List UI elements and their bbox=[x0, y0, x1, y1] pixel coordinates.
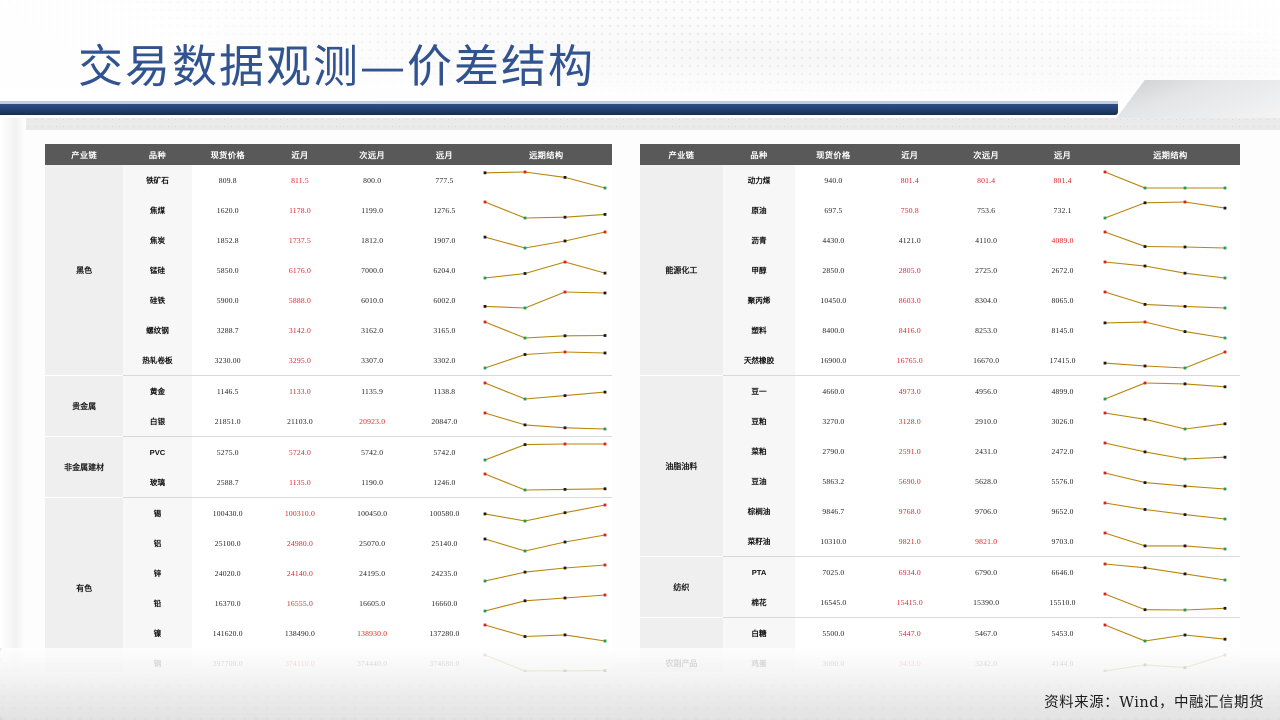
chain-cell: 油脂油料 bbox=[640, 376, 723, 557]
table-right: 产业链 品种 现货价格 近月 次远月 远月 远期结构 能源化工动力煤940.08… bbox=[640, 144, 1240, 709]
price-cell-mid: 16670.0 bbox=[948, 345, 1024, 376]
forward-structure-sparkline bbox=[481, 558, 612, 588]
forward-structure-sparkline bbox=[1101, 466, 1240, 496]
table-row: 白银21851.021103.020923.020847.0 bbox=[45, 406, 612, 437]
forward-structure-sparkline bbox=[1101, 376, 1240, 407]
forward-structure-sparkline bbox=[481, 225, 612, 255]
variety-cell: 玻璃 bbox=[123, 467, 191, 498]
price-cell-mid: 16605.0 bbox=[336, 588, 408, 618]
price-cell-near: 1178.0 bbox=[264, 195, 336, 225]
variety-cell: 菜粕 bbox=[723, 436, 795, 466]
price-cell-mid: 5628.0 bbox=[948, 466, 1024, 496]
price-cell-mid: 1135.9 bbox=[336, 376, 408, 407]
price-cell-far: 137280.0 bbox=[408, 618, 480, 648]
price-cell-spot: 16545.0 bbox=[795, 587, 871, 618]
forward-structure-sparkline bbox=[481, 437, 612, 468]
variety-cell: 铁矿石 bbox=[123, 165, 191, 195]
price-cell-spot: 10310.0 bbox=[795, 526, 871, 557]
price-cell-near: 8416.0 bbox=[872, 315, 948, 345]
price-cell-far: 4089.0 bbox=[1024, 225, 1100, 255]
price-cell-far: 1276.5 bbox=[408, 195, 480, 225]
price-cell-far: 20847.0 bbox=[408, 406, 480, 437]
table-row: 棕榈油9846.79768.09706.09652.0 bbox=[640, 496, 1240, 526]
price-cell-far: 8145.0 bbox=[1024, 315, 1100, 345]
price-cell-spot: 9846.7 bbox=[795, 496, 871, 526]
variety-cell: 棕榈油 bbox=[723, 496, 795, 526]
price-cell-mid: 100450.0 bbox=[336, 498, 408, 529]
variety-cell: 聚丙烯 bbox=[723, 285, 795, 315]
price-cell-mid: 4956.0 bbox=[948, 376, 1024, 407]
price-cell-far: 24235.0 bbox=[408, 558, 480, 588]
price-cell-mid: 9821.0 bbox=[948, 526, 1024, 557]
price-cell-near: 3142.0 bbox=[264, 315, 336, 345]
price-cell-near: 1133.0 bbox=[264, 376, 336, 407]
table-row: 豆粕3270.03128.02910.03026.0 bbox=[640, 406, 1240, 436]
price-cell-mid: 5742.0 bbox=[336, 437, 408, 468]
table-row: 镍141620.0138490.0138930.0137280.0 bbox=[45, 618, 612, 648]
variety-cell: 热轧卷板 bbox=[123, 345, 191, 376]
table-row: 铅16370.016555.016605.016660.0 bbox=[45, 588, 612, 618]
header-row: 产业链 品种 现货价格 近月 次远月 远月 远期结构 bbox=[45, 144, 612, 165]
price-cell-near: 801.4 bbox=[872, 165, 948, 195]
col-forward-structure: 远期结构 bbox=[481, 144, 612, 165]
price-cell-far: 15510.0 bbox=[1024, 587, 1100, 618]
price-cell-near: 16555.0 bbox=[264, 588, 336, 618]
table-left-body: 黑色铁矿石809.8811.5800.0777.5焦煤1620.01178.01… bbox=[45, 165, 612, 720]
price-cell-near: 5690.0 bbox=[872, 466, 948, 496]
page-title: 交易数据观测—价差结构 bbox=[78, 30, 595, 95]
variety-cell: 原油 bbox=[723, 195, 795, 225]
header-row: 产业链 品种 现货价格 近月 次远月 远月 远期结构 bbox=[640, 144, 1240, 165]
forward-structure-sparkline bbox=[481, 528, 612, 558]
forward-structure-sparkline bbox=[1101, 225, 1240, 255]
price-cell-near: 9821.0 bbox=[872, 526, 948, 557]
table-row: 天然橡胶16900.016765.016670.017415.0 bbox=[640, 345, 1240, 376]
price-cell-far: 100580.0 bbox=[408, 498, 480, 529]
col-variety: 品种 bbox=[723, 144, 795, 165]
variety-cell: 动力煤 bbox=[723, 165, 795, 195]
price-cell-spot: 1146.5 bbox=[192, 376, 264, 407]
price-cell-far: 732.1 bbox=[1024, 195, 1100, 225]
price-cell-near: 3295.0 bbox=[264, 345, 336, 376]
col-near: 近月 bbox=[872, 144, 948, 165]
price-cell-mid: 8253.0 bbox=[948, 315, 1024, 345]
price-cell-spot: 3270.0 bbox=[795, 406, 871, 436]
price-cell-near: 750.8 bbox=[872, 195, 948, 225]
slide-canvas: 交易数据观测—价差结构 产业链 品种 现货价格 近月 次远月 远月 远期结构 黑… bbox=[0, 0, 1280, 720]
col-spot: 现货价格 bbox=[795, 144, 871, 165]
col-near: 近月 bbox=[264, 144, 336, 165]
table-row: 纺织PTA7025.06934.06790.06646.0 bbox=[640, 557, 1240, 588]
forward-structure-sparkline bbox=[481, 195, 612, 225]
table-row: 甲醇2850.02805.02725.02672.0 bbox=[640, 255, 1240, 285]
title-rule bbox=[0, 104, 1118, 115]
price-cell-mid: 800.0 bbox=[336, 165, 408, 195]
forward-structure-sparkline bbox=[481, 467, 612, 498]
price-cell-mid: 6010.0 bbox=[336, 285, 408, 315]
table-left-head: 产业链 品种 现货价格 近月 次远月 远月 远期结构 bbox=[45, 144, 612, 165]
forward-structure-sparkline bbox=[1101, 436, 1240, 466]
price-cell-near: 8603.0 bbox=[872, 285, 948, 315]
forward-structure-sparkline bbox=[1101, 165, 1240, 195]
forward-structure-sparkline bbox=[1101, 587, 1240, 618]
price-cell-far: 25140.0 bbox=[408, 528, 480, 558]
variety-cell: 黄金 bbox=[123, 376, 191, 407]
variety-cell: 硅铁 bbox=[123, 285, 191, 315]
table-row: 农副产品白糖5500.05447.05467.05453.0 bbox=[640, 618, 1240, 649]
price-cell-near: 4121.0 bbox=[872, 225, 948, 255]
table-row: 螺纹钢3288.73142.03162.03165.0 bbox=[45, 315, 612, 345]
price-cell-spot: 25100.0 bbox=[192, 528, 264, 558]
price-cell-spot: 24020.0 bbox=[192, 558, 264, 588]
price-cell-mid: 9706.0 bbox=[948, 496, 1024, 526]
price-cell-near: 16765.0 bbox=[872, 345, 948, 376]
price-cell-spot: 5500.0 bbox=[795, 618, 871, 649]
price-cell-spot: 16900.0 bbox=[795, 345, 871, 376]
price-cell-mid: 3307.0 bbox=[336, 345, 408, 376]
forward-structure-sparkline bbox=[481, 588, 612, 618]
price-cell-far: 6002.0 bbox=[408, 285, 480, 315]
price-cell-far: 2472.0 bbox=[1024, 436, 1100, 466]
variety-cell: 沥青 bbox=[723, 225, 795, 255]
table-row: 玻璃2588.71135.01190.01246.0 bbox=[45, 467, 612, 498]
price-cell-far: 4899.0 bbox=[1024, 376, 1100, 407]
variety-cell: 焦炭 bbox=[123, 225, 191, 255]
price-cell-spot: 5850.0 bbox=[192, 255, 264, 285]
price-cell-near: 811.5 bbox=[264, 165, 336, 195]
price-cell-mid: 8304.0 bbox=[948, 285, 1024, 315]
table-row: 硅铁5900.05888.06010.06002.0 bbox=[45, 285, 612, 315]
price-cell-near: 2591.0 bbox=[872, 436, 948, 466]
forward-structure-sparkline bbox=[481, 315, 612, 345]
price-cell-mid: 24195.0 bbox=[336, 558, 408, 588]
price-cell-far: 6204.0 bbox=[408, 255, 480, 285]
forward-structure-sparkline bbox=[481, 165, 612, 195]
price-cell-spot: 4430.0 bbox=[795, 225, 871, 255]
variety-cell: 菜籽油 bbox=[723, 526, 795, 557]
variety-cell: PVC bbox=[123, 437, 191, 468]
price-table-left: 产业链 品种 现货价格 近月 次远月 远月 远期结构 黑色铁矿石809.8811… bbox=[45, 144, 612, 720]
table-row: 黑色铁矿石809.8811.5800.0777.5 bbox=[45, 165, 612, 195]
forward-structure-sparkline bbox=[481, 618, 612, 648]
price-cell-mid: 20923.0 bbox=[336, 406, 408, 437]
table-row: 铝25100.024980.025070.025140.0 bbox=[45, 528, 612, 558]
price-cell-far: 1907.0 bbox=[408, 225, 480, 255]
forward-structure-sparkline bbox=[1101, 195, 1240, 225]
price-cell-spot: 2790.0 bbox=[795, 436, 871, 466]
price-cell-spot: 940.0 bbox=[795, 165, 871, 195]
price-cell-spot: 100430.0 bbox=[192, 498, 264, 529]
variety-cell: 白银 bbox=[123, 406, 191, 437]
table-row: 棉花16545.015415.015390.015510.0 bbox=[640, 587, 1240, 618]
forward-structure-sparkline bbox=[1101, 526, 1240, 557]
price-cell-near: 4973.0 bbox=[872, 376, 948, 407]
price-cell-mid: 7000.0 bbox=[336, 255, 408, 285]
table-row: 能源化工动力煤940.0801.4801.4801.4 bbox=[640, 165, 1240, 195]
price-cell-mid: 3162.0 bbox=[336, 315, 408, 345]
table-row: 菜籽油10310.09821.09821.09703.0 bbox=[640, 526, 1240, 557]
variety-cell: 锰硅 bbox=[123, 255, 191, 285]
table-right-body: 能源化工动力煤940.0801.4801.4801.4原油697.5750.87… bbox=[640, 165, 1240, 709]
price-cell-spot: 1852.8 bbox=[192, 225, 264, 255]
price-cell-mid: 15390.0 bbox=[948, 587, 1024, 618]
price-cell-far: 1246.0 bbox=[408, 467, 480, 498]
price-cell-far: 3165.0 bbox=[408, 315, 480, 345]
forward-structure-sparkline bbox=[1101, 285, 1240, 315]
table-row: 锌24020.024140.024195.024235.0 bbox=[45, 558, 612, 588]
price-cell-mid: 1199.0 bbox=[336, 195, 408, 225]
table-row: 沥青4430.04121.04110.04089.0 bbox=[640, 225, 1240, 255]
price-cell-near: 1135.0 bbox=[264, 467, 336, 498]
price-cell-mid: 2910.0 bbox=[948, 406, 1024, 436]
price-cell-spot: 2850.0 bbox=[795, 255, 871, 285]
price-cell-near: 100310.0 bbox=[264, 498, 336, 529]
price-cell-spot: 21851.0 bbox=[192, 406, 264, 437]
price-cell-near: 3128.0 bbox=[872, 406, 948, 436]
forward-structure-sparkline bbox=[481, 255, 612, 285]
variety-cell: 豆粕 bbox=[723, 406, 795, 436]
price-cell-near: 5447.0 bbox=[872, 618, 948, 649]
table-row: 锰硅5850.06176.07000.06204.0 bbox=[45, 255, 612, 285]
col-mid: 次远月 bbox=[948, 144, 1024, 165]
price-cell-far: 5576.0 bbox=[1024, 466, 1100, 496]
price-cell-near: 24980.0 bbox=[264, 528, 336, 558]
price-cell-near: 1737.5 bbox=[264, 225, 336, 255]
price-cell-far: 777.5 bbox=[408, 165, 480, 195]
price-cell-far: 9652.0 bbox=[1024, 496, 1100, 526]
price-cell-far: 3026.0 bbox=[1024, 406, 1100, 436]
col-forward-structure: 远期结构 bbox=[1101, 144, 1240, 165]
chain-cell: 贵金属 bbox=[45, 376, 123, 437]
price-cell-far: 5742.0 bbox=[408, 437, 480, 468]
chain-cell: 非金属建材 bbox=[45, 437, 123, 498]
variety-cell: 甲醇 bbox=[723, 255, 795, 285]
price-cell-mid: 801.4 bbox=[948, 165, 1024, 195]
variety-cell: 豆油 bbox=[723, 466, 795, 496]
forward-structure-sparkline bbox=[1101, 315, 1240, 345]
price-cell-spot: 5900.0 bbox=[192, 285, 264, 315]
forward-structure-sparkline bbox=[481, 285, 612, 315]
price-cell-spot: 8400.0 bbox=[795, 315, 871, 345]
table-row: 油脂油料豆一4660.04973.04956.04899.0 bbox=[640, 376, 1240, 407]
price-cell-mid: 4110.0 bbox=[948, 225, 1024, 255]
forward-structure-sparkline bbox=[1101, 496, 1240, 526]
forward-structure-sparkline bbox=[1101, 618, 1240, 649]
col-chain: 产业链 bbox=[45, 144, 123, 165]
variety-cell: 锌 bbox=[123, 558, 191, 588]
col-far: 远月 bbox=[408, 144, 480, 165]
price-cell-far: 16660.0 bbox=[408, 588, 480, 618]
forward-structure-sparkline bbox=[481, 376, 612, 407]
variety-cell: 铝 bbox=[123, 528, 191, 558]
forward-structure-sparkline bbox=[1101, 557, 1240, 588]
price-cell-spot: 697.5 bbox=[795, 195, 871, 225]
variety-cell: 焦煤 bbox=[123, 195, 191, 225]
price-cell-near: 15415.0 bbox=[872, 587, 948, 618]
price-cell-spot: 3288.7 bbox=[192, 315, 264, 345]
table-left: 产业链 品种 现货价格 近月 次远月 远月 远期结构 黑色铁矿石809.8811… bbox=[45, 144, 612, 720]
col-chain: 产业链 bbox=[640, 144, 723, 165]
table-row: 焦炭1852.81737.51812.01907.0 bbox=[45, 225, 612, 255]
chain-cell: 黑色 bbox=[45, 165, 123, 376]
table-row: 贵金属黄金1146.51133.01135.91138.8 bbox=[45, 376, 612, 407]
price-cell-far: 17415.0 bbox=[1024, 345, 1100, 376]
price-cell-spot: 16370.0 bbox=[192, 588, 264, 618]
variety-cell: PTA bbox=[723, 557, 795, 588]
price-cell-near: 9768.0 bbox=[872, 496, 948, 526]
chain-cell: 纺织 bbox=[640, 557, 723, 618]
price-cell-mid: 1812.0 bbox=[336, 225, 408, 255]
price-cell-spot: 7025.0 bbox=[795, 557, 871, 588]
forward-structure-sparkline bbox=[1101, 255, 1240, 285]
price-cell-mid: 6790.0 bbox=[948, 557, 1024, 588]
price-cell-mid: 2725.0 bbox=[948, 255, 1024, 285]
variety-cell: 镍 bbox=[123, 618, 191, 648]
price-cell-far: 5453.0 bbox=[1024, 618, 1100, 649]
price-cell-near: 24140.0 bbox=[264, 558, 336, 588]
table-row: 聚丙烯10450.08603.08304.08065.0 bbox=[640, 285, 1240, 315]
price-cell-near: 5888.0 bbox=[264, 285, 336, 315]
variety-cell: 螺纹钢 bbox=[123, 315, 191, 345]
price-cell-mid: 25070.0 bbox=[336, 528, 408, 558]
price-cell-spot: 2588.7 bbox=[192, 467, 264, 498]
table-row: 有色锡100430.0100310.0100450.0100580.0 bbox=[45, 498, 612, 529]
col-mid: 次远月 bbox=[336, 144, 408, 165]
price-cell-near: 21103.0 bbox=[264, 406, 336, 437]
price-cell-far: 2672.0 bbox=[1024, 255, 1100, 285]
price-cell-spot: 4660.0 bbox=[795, 376, 871, 407]
forward-structure-sparkline bbox=[481, 406, 612, 437]
variety-cell: 铅 bbox=[123, 588, 191, 618]
price-cell-mid: 1190.0 bbox=[336, 467, 408, 498]
col-spot: 现货价格 bbox=[192, 144, 264, 165]
price-cell-mid: 753.6 bbox=[948, 195, 1024, 225]
forward-structure-sparkline bbox=[1101, 345, 1240, 376]
price-cell-far: 3302.0 bbox=[408, 345, 480, 376]
price-cell-spot: 5275.0 bbox=[192, 437, 264, 468]
variety-cell: 棉花 bbox=[723, 587, 795, 618]
table-row: 豆油5863.25690.05628.05576.0 bbox=[640, 466, 1240, 496]
table-row: 菜粕2790.02591.02431.02472.0 bbox=[640, 436, 1240, 466]
table-row: 热轧卷板3230.003295.03307.03302.0 bbox=[45, 345, 612, 376]
table-right-head: 产业链 品种 现货价格 近月 次远月 远月 远期结构 bbox=[640, 144, 1240, 165]
price-cell-spot: 141620.0 bbox=[192, 618, 264, 648]
price-cell-mid: 2431.0 bbox=[948, 436, 1024, 466]
variety-cell: 天然橡胶 bbox=[723, 345, 795, 376]
price-cell-near: 5724.0 bbox=[264, 437, 336, 468]
price-cell-spot: 809.8 bbox=[192, 165, 264, 195]
variety-cell: 塑料 bbox=[723, 315, 795, 345]
price-cell-mid: 138930.0 bbox=[336, 618, 408, 648]
forward-structure-sparkline bbox=[481, 345, 612, 376]
price-cell-spot: 10450.0 bbox=[795, 285, 871, 315]
table-row: 原油697.5750.8753.6732.1 bbox=[640, 195, 1240, 225]
table-row: 非金属建材PVC5275.05724.05742.05742.0 bbox=[45, 437, 612, 468]
price-cell-far: 8065.0 bbox=[1024, 285, 1100, 315]
price-cell-spot: 5863.2 bbox=[795, 466, 871, 496]
price-cell-near: 6176.0 bbox=[264, 255, 336, 285]
source-note: 资料来源：Wind，中融汇信期货 bbox=[1044, 691, 1264, 712]
chain-cell: 能源化工 bbox=[640, 165, 723, 376]
col-variety: 品种 bbox=[123, 144, 191, 165]
price-cell-spot: 1620.0 bbox=[192, 195, 264, 225]
price-cell-near: 6934.0 bbox=[872, 557, 948, 588]
price-cell-far: 9703.0 bbox=[1024, 526, 1100, 557]
table-row: 焦煤1620.01178.01199.01276.5 bbox=[45, 195, 612, 225]
variety-cell: 豆一 bbox=[723, 376, 795, 407]
col-far: 远月 bbox=[1024, 144, 1100, 165]
price-table-right: 产业链 品种 现货价格 近月 次远月 远月 远期结构 能源化工动力煤940.08… bbox=[640, 144, 1240, 711]
variety-cell: 白糖 bbox=[723, 618, 795, 649]
price-cell-far: 1138.8 bbox=[408, 376, 480, 407]
forward-structure-sparkline bbox=[1101, 406, 1240, 436]
price-cell-mid: 5467.0 bbox=[948, 618, 1024, 649]
price-cell-far: 6646.0 bbox=[1024, 557, 1100, 588]
price-cell-spot: 3230.00 bbox=[192, 345, 264, 376]
price-cell-near: 138490.0 bbox=[264, 618, 336, 648]
forward-structure-sparkline bbox=[481, 498, 612, 529]
price-cell-near: 2805.0 bbox=[872, 255, 948, 285]
table-row: 塑料8400.08416.08253.08145.0 bbox=[640, 315, 1240, 345]
price-cell-far: 801.4 bbox=[1024, 165, 1100, 195]
variety-cell: 锡 bbox=[123, 498, 191, 529]
